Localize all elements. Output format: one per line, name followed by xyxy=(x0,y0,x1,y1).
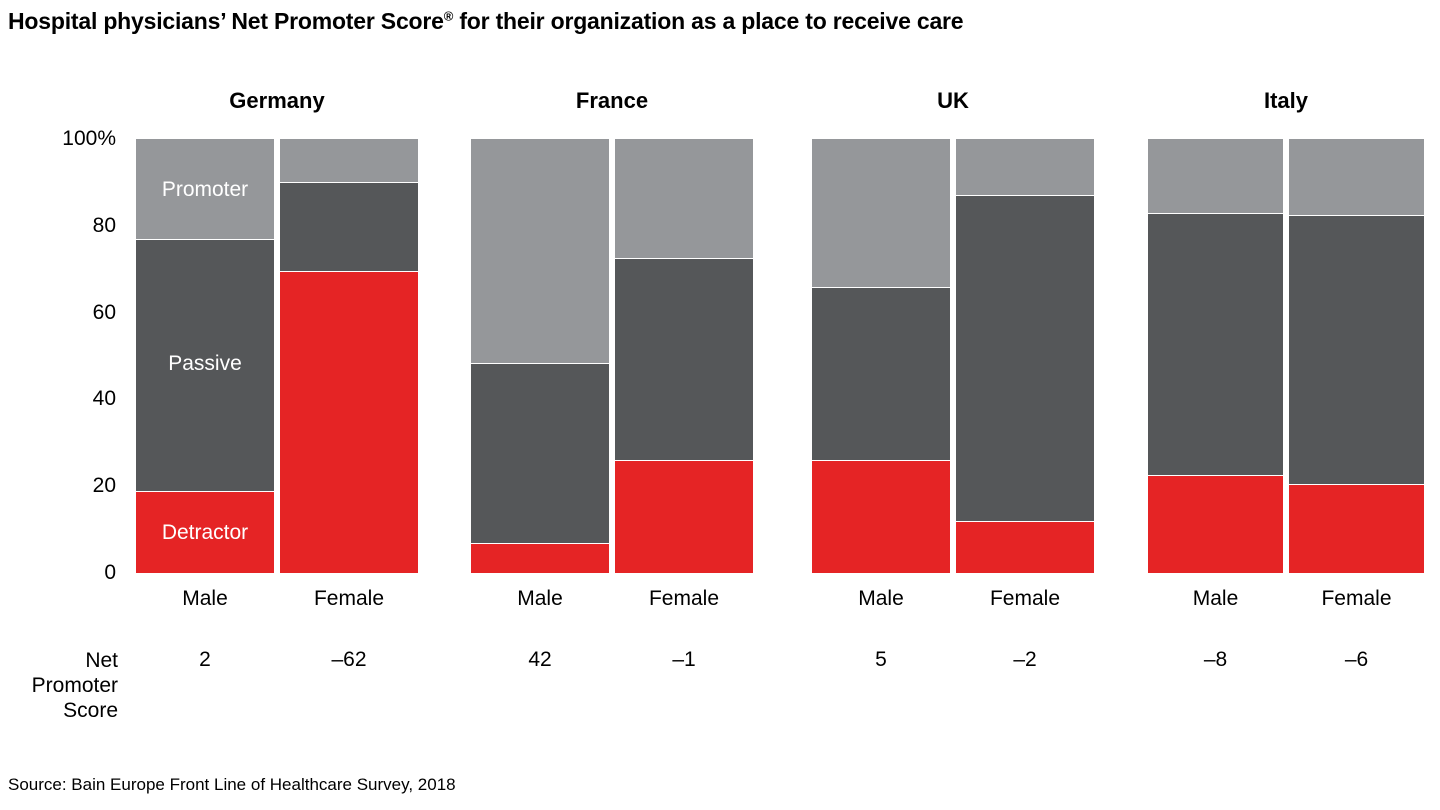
nps-row-label-line-2: Promoter xyxy=(22,673,118,698)
y-axis-tick-80: 80 xyxy=(93,214,116,238)
segment-promoter-italy-female[interactable] xyxy=(1289,139,1424,215)
segment-detractor-france-female[interactable] xyxy=(615,460,753,573)
y-axis-tick-100pct: 100% xyxy=(62,127,116,151)
source-note: Source: Bain Europe Front Line of Health… xyxy=(8,775,456,795)
x-axis-label-france-male: Male xyxy=(471,587,609,611)
segment-detractor-germany-female[interactable] xyxy=(280,271,418,573)
segment-passive-france-female[interactable] xyxy=(615,258,753,460)
segment-passive-germany-female[interactable] xyxy=(280,182,418,271)
nps-row-label-line-3: Score xyxy=(22,698,118,723)
segment-promoter-germany-female[interactable] xyxy=(280,139,418,182)
bar-italy-female[interactable] xyxy=(1289,139,1424,573)
segment-promoter-france-male[interactable] xyxy=(471,139,609,363)
x-axis-label-uk-female: Female xyxy=(956,587,1094,611)
segment-passive-italy-male[interactable] xyxy=(1148,213,1283,476)
page-title-text-after: for their organization as a place to rec… xyxy=(453,8,963,34)
nps-row-label: NetPromoterScore xyxy=(22,648,118,723)
nps-value-france-female: –1 xyxy=(615,648,753,672)
page-title-text-before: Hospital physicians’ Net Promoter Score xyxy=(8,8,444,34)
nps-row-label-line-1: Net xyxy=(22,648,118,673)
nps-value-germany-male: 2 xyxy=(136,648,274,672)
x-axis-label-italy-male: Male xyxy=(1148,587,1283,611)
nps-value-germany-female: –62 xyxy=(280,648,418,672)
panel-uk xyxy=(812,139,1094,573)
nps-value-italy-male: –8 xyxy=(1148,648,1283,672)
registered-trademark-icon: ® xyxy=(444,8,453,23)
nps-value-france-male: 42 xyxy=(471,648,609,672)
segment-detractor-italy-female[interactable] xyxy=(1289,484,1424,573)
bar-italy-male[interactable] xyxy=(1148,139,1283,573)
segment-passive-france-male[interactable] xyxy=(471,363,609,543)
segment-label-detractor: Detractor xyxy=(136,521,274,545)
bar-france-male[interactable] xyxy=(471,139,609,573)
x-axis-label-italy-female: Female xyxy=(1289,587,1424,611)
segment-label-promoter: Promoter xyxy=(136,178,274,202)
bar-uk-male[interactable] xyxy=(812,139,950,573)
segment-detractor-italy-male[interactable] xyxy=(1148,475,1283,573)
y-axis-tick-40: 40 xyxy=(93,387,116,411)
segment-label-passive: Passive xyxy=(136,352,274,376)
segment-detractor-uk-male[interactable] xyxy=(812,460,950,573)
panel-title-germany: Germany xyxy=(136,88,418,114)
panel-title-italy: Italy xyxy=(1148,88,1424,114)
segment-passive-uk-male[interactable] xyxy=(812,287,950,461)
segment-promoter-uk-female[interactable] xyxy=(956,139,1094,195)
x-axis-label-uk-male: Male xyxy=(812,587,950,611)
x-axis-label-france-female: Female xyxy=(615,587,753,611)
bar-france-female[interactable] xyxy=(615,139,753,573)
bar-uk-female[interactable] xyxy=(956,139,1094,573)
nps-value-italy-female: –6 xyxy=(1289,648,1424,672)
x-axis-label-germany-female: Female xyxy=(280,587,418,611)
page-title: Hospital physicians’ Net Promoter Score®… xyxy=(8,8,1428,35)
panel-title-france: France xyxy=(471,88,753,114)
panel-italy xyxy=(1148,139,1424,573)
segment-promoter-france-female[interactable] xyxy=(615,139,753,258)
nps-value-uk-female: –2 xyxy=(956,648,1094,672)
y-axis-tick-60: 60 xyxy=(93,301,116,325)
nps-value-uk-male: 5 xyxy=(812,648,950,672)
y-axis: 100%806040200 xyxy=(24,120,124,590)
panel-title-uk: UK xyxy=(812,88,1094,114)
segment-passive-uk-female[interactable] xyxy=(956,195,1094,521)
segment-detractor-france-male[interactable] xyxy=(471,543,609,573)
x-axis-label-germany-male: Male xyxy=(136,587,274,611)
y-axis-tick-20: 20 xyxy=(93,474,116,498)
bar-germany-female[interactable] xyxy=(280,139,418,573)
y-axis-tick-0: 0 xyxy=(104,561,116,585)
segment-passive-italy-female[interactable] xyxy=(1289,215,1424,484)
segment-promoter-uk-male[interactable] xyxy=(812,139,950,287)
segment-detractor-uk-female[interactable] xyxy=(956,521,1094,573)
panel-france xyxy=(471,139,753,573)
segment-promoter-italy-male[interactable] xyxy=(1148,139,1283,213)
